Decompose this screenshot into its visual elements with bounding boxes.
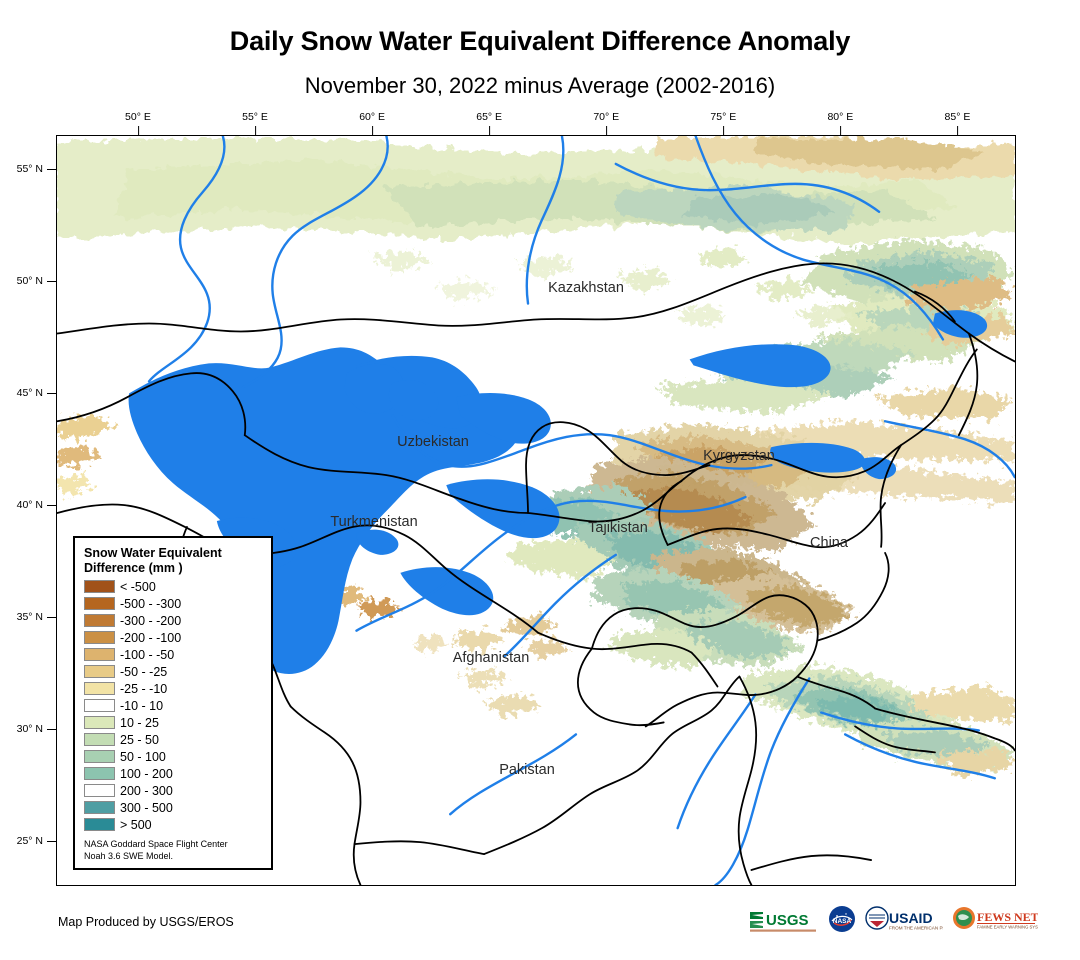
- legend-source-line1: NASA Goddard Space Flight Center: [84, 839, 264, 851]
- legend-row: -10 - 10: [84, 697, 264, 714]
- legend-row: 300 - 500: [84, 799, 264, 816]
- country-label-kazakhstan: Kazakhstan: [548, 280, 624, 296]
- legend-source: NASA Goddard Space Flight Center Noah 3.…: [84, 839, 264, 862]
- legend-label: 10 - 25: [120, 716, 159, 730]
- legend-label: > 500: [120, 818, 152, 832]
- lat-tick-mark: [47, 729, 56, 730]
- border-afghan-amu: [692, 653, 718, 687]
- legend-swatch: [84, 733, 115, 746]
- country-label-pakistan: Pakistan: [499, 762, 555, 778]
- lat-tick-50: 50° N: [17, 275, 43, 287]
- lon-tick-label: 75° E: [710, 111, 736, 123]
- nasa-logo[interactable]: NASA: [828, 905, 856, 933]
- legend-label: -25 - -10: [120, 682, 167, 696]
- legend-row: -100 - -50: [84, 646, 264, 663]
- border-russia-kazakhstan: [57, 263, 1014, 361]
- border-china-mongolia: [959, 333, 977, 435]
- lon-tick-label: 60° E: [359, 111, 385, 123]
- lon-tick-65: 65° E: [476, 111, 502, 123]
- river-irtysh-lower: [616, 164, 879, 212]
- river-tarim: [885, 421, 1015, 477]
- legend-swatch: [84, 767, 115, 780]
- map-legend[interactable]: Snow Water Equivalent Difference (mm ) <…: [73, 536, 273, 870]
- lat-tick-mark: [47, 393, 56, 394]
- legend-title-line2: Difference (mm ): [84, 561, 264, 576]
- legend-swatch: [84, 614, 115, 627]
- lat-tick-25: 25° N: [17, 835, 43, 847]
- river-irtysh-upper: [696, 136, 943, 339]
- lon-tick-mark: [723, 126, 724, 135]
- lon-tick-label: 70° E: [593, 111, 619, 123]
- svg-text:FEWS NET: FEWS NET: [977, 910, 1038, 924]
- lake-sarygamysh: [356, 530, 398, 555]
- legend-label: -300 - -200: [120, 614, 181, 628]
- legend-row: 100 - 200: [84, 765, 264, 782]
- lon-tick-mark: [840, 126, 841, 135]
- fewsnet-logo[interactable]: FEWS NET FAMINE EARLY WARNING SYSTEMS NE…: [952, 905, 1038, 933]
- lon-tick-50: 50° E: [125, 111, 151, 123]
- legend-row: -50 - -25: [84, 663, 264, 680]
- page-subtitle: November 30, 2022 minus Average (2002-20…: [0, 73, 1080, 99]
- border-china-tajik: [817, 553, 888, 641]
- country-label-kyrgyzstan: Kyrgyzstan: [703, 448, 775, 464]
- lat-tick-35: 35° N: [17, 611, 43, 623]
- legend-swatch: [84, 665, 115, 678]
- border-kazakhstan-china: [901, 349, 977, 445]
- legend-label: 300 - 500: [120, 801, 173, 815]
- lon-tick-mark: [255, 126, 256, 135]
- legend-swatch: [84, 801, 115, 814]
- legend-class-list: < -500-500 - -300-300 - -200-200 - -100-…: [84, 578, 264, 833]
- svg-text:NASA: NASA: [833, 918, 852, 925]
- map-canvas[interactable]: KazakhstanUzbekistanTurkmenistanKyrgyzst…: [56, 135, 1016, 886]
- lon-tick-label: 55° E: [242, 111, 268, 123]
- legend-row: -200 - -100: [84, 629, 264, 646]
- river-volga: [149, 136, 224, 381]
- lon-tick-70: 70° E: [593, 111, 619, 123]
- usaid-logo[interactable]: USAID FROM THE AMERICAN PEOPLE: [865, 905, 943, 933]
- river-ishim: [527, 136, 564, 304]
- river-ural: [243, 136, 388, 387]
- svg-text:FROM THE AMERICAN PEOPLE: FROM THE AMERICAN PEOPLE: [889, 926, 943, 931]
- border-tajikistan-west: [578, 649, 664, 726]
- footer-credit: Map Produced by USGS/EROS: [58, 915, 234, 929]
- lon-tick-label: 85° E: [945, 111, 971, 123]
- svg-text:USGS: USGS: [766, 912, 809, 929]
- legend-title: Snow Water Equivalent Difference (mm ): [84, 546, 264, 575]
- lat-tick-30: 30° N: [17, 723, 43, 735]
- border-iran-afghanistan: [291, 706, 361, 885]
- legend-swatch: [84, 784, 115, 797]
- lat-tick-label: 40° N: [17, 499, 43, 511]
- border-china-pakistan: [797, 677, 875, 709]
- lat-tick-55: 55° N: [17, 163, 43, 175]
- legend-row: 25 - 50: [84, 731, 264, 748]
- lat-tick-label: 30° N: [17, 723, 43, 735]
- lon-tick-60: 60° E: [359, 111, 385, 123]
- svg-text:FAMINE EARLY WARNING SYSTEMS N: FAMINE EARLY WARNING SYSTEMS NETWORK: [977, 925, 1038, 930]
- lat-tick-label: 50° N: [17, 275, 43, 287]
- lat-tick-mark: [47, 617, 56, 618]
- lat-tick-mark: [47, 169, 56, 170]
- river-indus: [716, 679, 810, 885]
- legend-swatch: [84, 682, 115, 695]
- legend-swatch: [84, 631, 115, 644]
- legend-label: -200 - -100: [120, 631, 181, 645]
- legend-label: < -500: [120, 580, 156, 594]
- lon-tick-75: 75° E: [710, 111, 736, 123]
- legend-label: -500 - -300: [120, 597, 181, 611]
- page-title: Daily Snow Water Equivalent Difference A…: [0, 26, 1080, 57]
- lat-tick-label: 45° N: [17, 387, 43, 399]
- legend-label: 25 - 50: [120, 733, 159, 747]
- lat-tick-mark: [47, 841, 56, 842]
- legend-swatch: [84, 699, 115, 712]
- lon-tick-mark: [957, 126, 958, 135]
- agency-logos: USGS NASA USAID FROM THE AMERICAN PEOPLE: [749, 902, 1038, 936]
- legend-row: 50 - 100: [84, 748, 264, 765]
- legend-row: < -500: [84, 578, 264, 595]
- lon-tick-mark: [606, 126, 607, 135]
- legend-source-line2: Noah 3.6 SWE Model.: [84, 851, 264, 863]
- legend-row: -300 - -200: [84, 612, 264, 629]
- lon-tick-mark: [138, 126, 139, 135]
- legend-label: 200 - 300: [120, 784, 173, 798]
- legend-swatch: [84, 597, 115, 610]
- legend-swatch: [84, 818, 115, 831]
- legend-row: 200 - 300: [84, 782, 264, 799]
- border-iran-south: [354, 841, 484, 854]
- lake-alakol: [861, 457, 896, 479]
- lon-tick-mark: [489, 126, 490, 135]
- country-label-afghanistan: Afghanistan: [453, 650, 530, 666]
- lon-tick-80: 80° E: [827, 111, 853, 123]
- lon-tick-label: 80° E: [827, 111, 853, 123]
- legend-label: -50 - -25: [120, 665, 167, 679]
- legend-swatch: [84, 716, 115, 729]
- legend-swatch: [84, 750, 115, 763]
- lon-tick-85: 85° E: [945, 111, 971, 123]
- border-tajikistan: [592, 595, 818, 726]
- legend-label: 50 - 100: [120, 750, 166, 764]
- country-label-tajikistan: Tajikistan: [588, 520, 648, 536]
- legend-label: -10 - 10: [120, 699, 163, 713]
- country-label-turkmenistan: Turkmenistan: [330, 514, 417, 530]
- legend-row: -25 - -10: [84, 680, 264, 697]
- lat-tick-label: 25° N: [17, 835, 43, 847]
- map-page: Daily Snow Water Equivalent Difference A…: [0, 0, 1080, 960]
- lake-zaysan: [933, 310, 987, 338]
- border-india-nepal: [855, 726, 935, 752]
- lon-tick-55: 55° E: [242, 111, 268, 123]
- lat-tick-mark: [47, 505, 56, 506]
- legend-row: 10 - 25: [84, 714, 264, 731]
- border-india-west: [751, 855, 871, 870]
- lat-tick-label: 55° N: [17, 163, 43, 175]
- legend-label: 100 - 200: [120, 767, 173, 781]
- country-label-uzbekistan: Uzbekistan: [397, 434, 469, 450]
- lake-balkhash: [690, 344, 831, 387]
- lon-tick-label: 65° E: [476, 111, 502, 123]
- border-afghanistan-north: [538, 633, 692, 653]
- svg-text:USAID: USAID: [889, 910, 933, 926]
- legend-title-line1: Snow Water Equivalent: [84, 546, 264, 561]
- lat-tick-40: 40° N: [17, 499, 43, 511]
- lat-tick-label: 35° N: [17, 611, 43, 623]
- legend-row: > 500: [84, 816, 264, 833]
- lake-issyk-kul: [770, 443, 865, 473]
- lat-tick-mark: [47, 281, 56, 282]
- legend-row: -500 - -300: [84, 595, 264, 612]
- river-ganges: [845, 734, 995, 778]
- river-indus-trib: [678, 695, 756, 829]
- usgs-logo[interactable]: USGS: [749, 905, 819, 933]
- legend-label: -100 - -50: [120, 648, 174, 662]
- legend-swatch: [84, 580, 115, 593]
- lat-tick-45: 45° N: [17, 387, 43, 399]
- legend-swatch: [84, 648, 115, 661]
- lon-tick-mark: [372, 126, 373, 135]
- country-label-china: China: [810, 535, 848, 551]
- lon-tick-label: 50° E: [125, 111, 151, 123]
